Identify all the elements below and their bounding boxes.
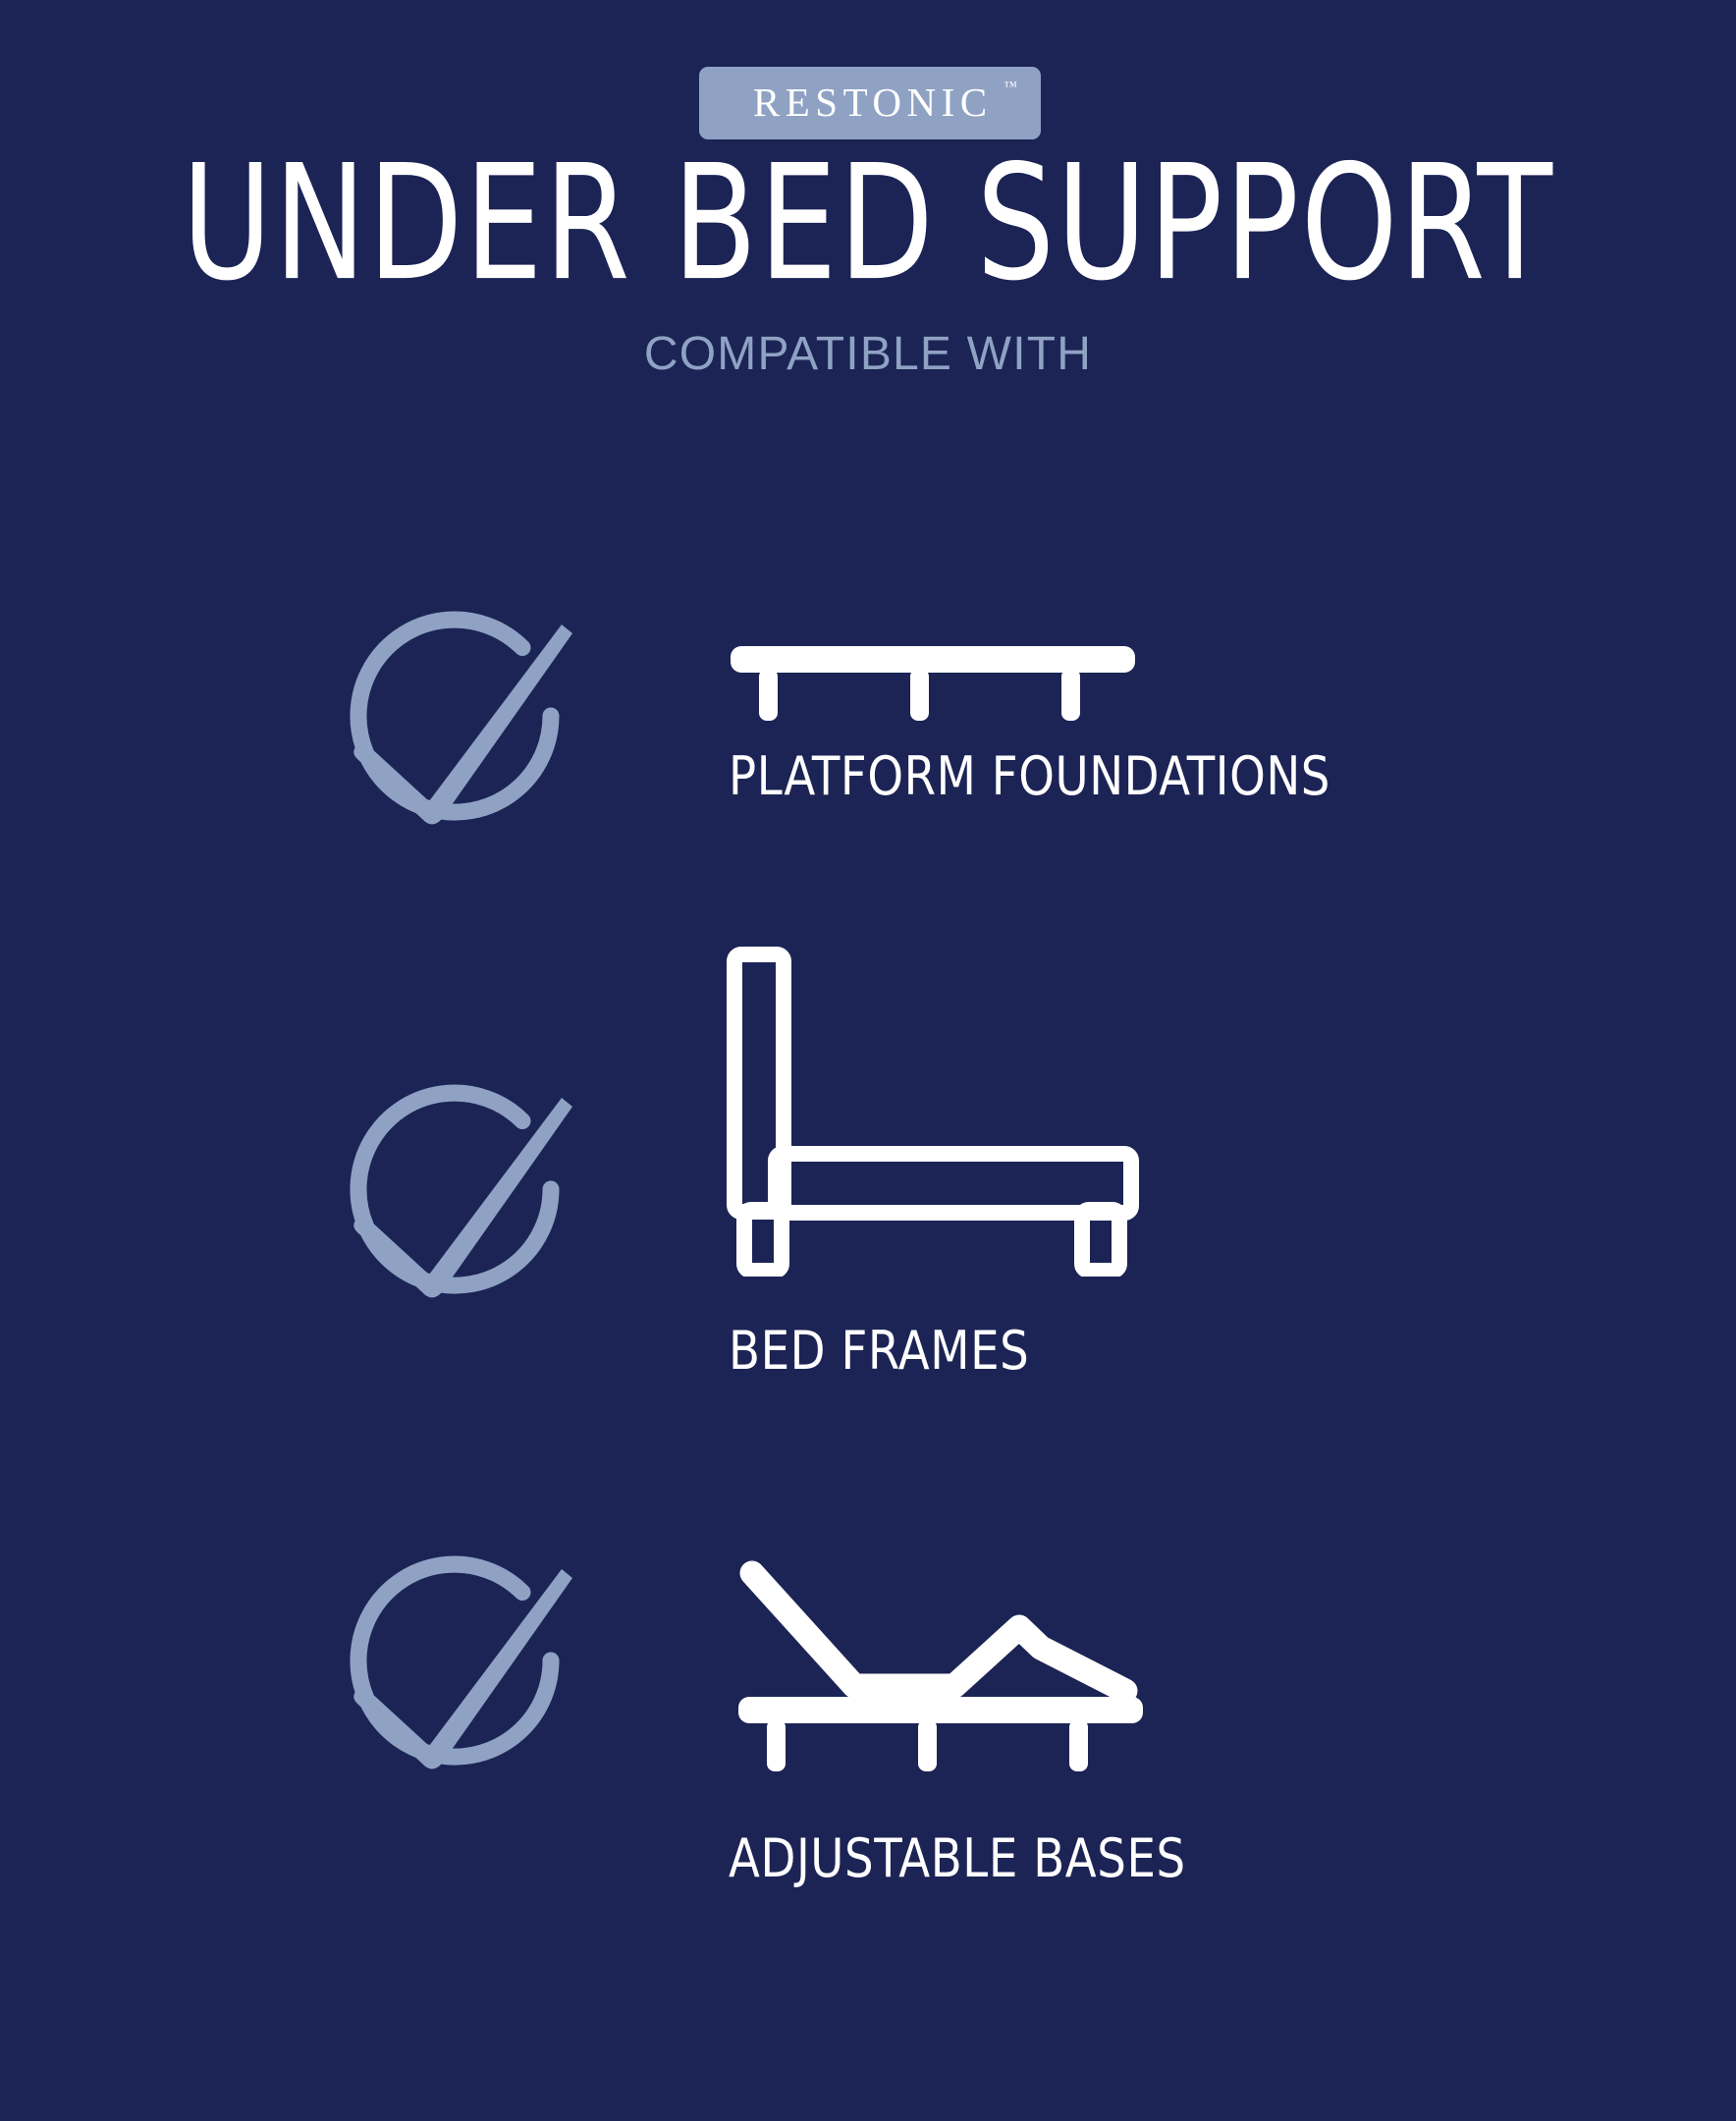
page-title: UNDER BED SUPPORT <box>61 118 1675 330</box>
compatibility-row: PLATFORM FOUNDATIONS <box>0 589 1736 864</box>
compatibility-label: PLATFORM FOUNDATIONS <box>729 746 1330 807</box>
compatibility-row: ADJUSTABLE BASES <box>0 1542 1736 1876</box>
restonic-wordmark: RESTONIC <box>747 82 992 123</box>
under-bed-support-graphic: RESTONIC ™ UNDER BED SUPPORT COMPATIBLE … <box>0 0 1736 2121</box>
compatibility-row: BED FRAMES <box>0 923 1736 1335</box>
trademark-mark: ™ <box>1004 81 1017 94</box>
check-circle-icon <box>330 1080 583 1328</box>
compatibility-label: ADJUSTABLE BASES <box>729 1828 1186 1889</box>
check-circle-icon <box>330 607 583 854</box>
page-subtitle: COMPATIBLE WITH <box>0 326 1736 383</box>
platform-foundation-icon <box>717 630 1149 738</box>
compatibility-label: BED FRAMES <box>729 1321 1029 1382</box>
bed-frame-icon <box>717 943 1149 1277</box>
check-circle-icon <box>330 1551 583 1799</box>
adjustable-base-icon <box>717 1522 1168 1797</box>
